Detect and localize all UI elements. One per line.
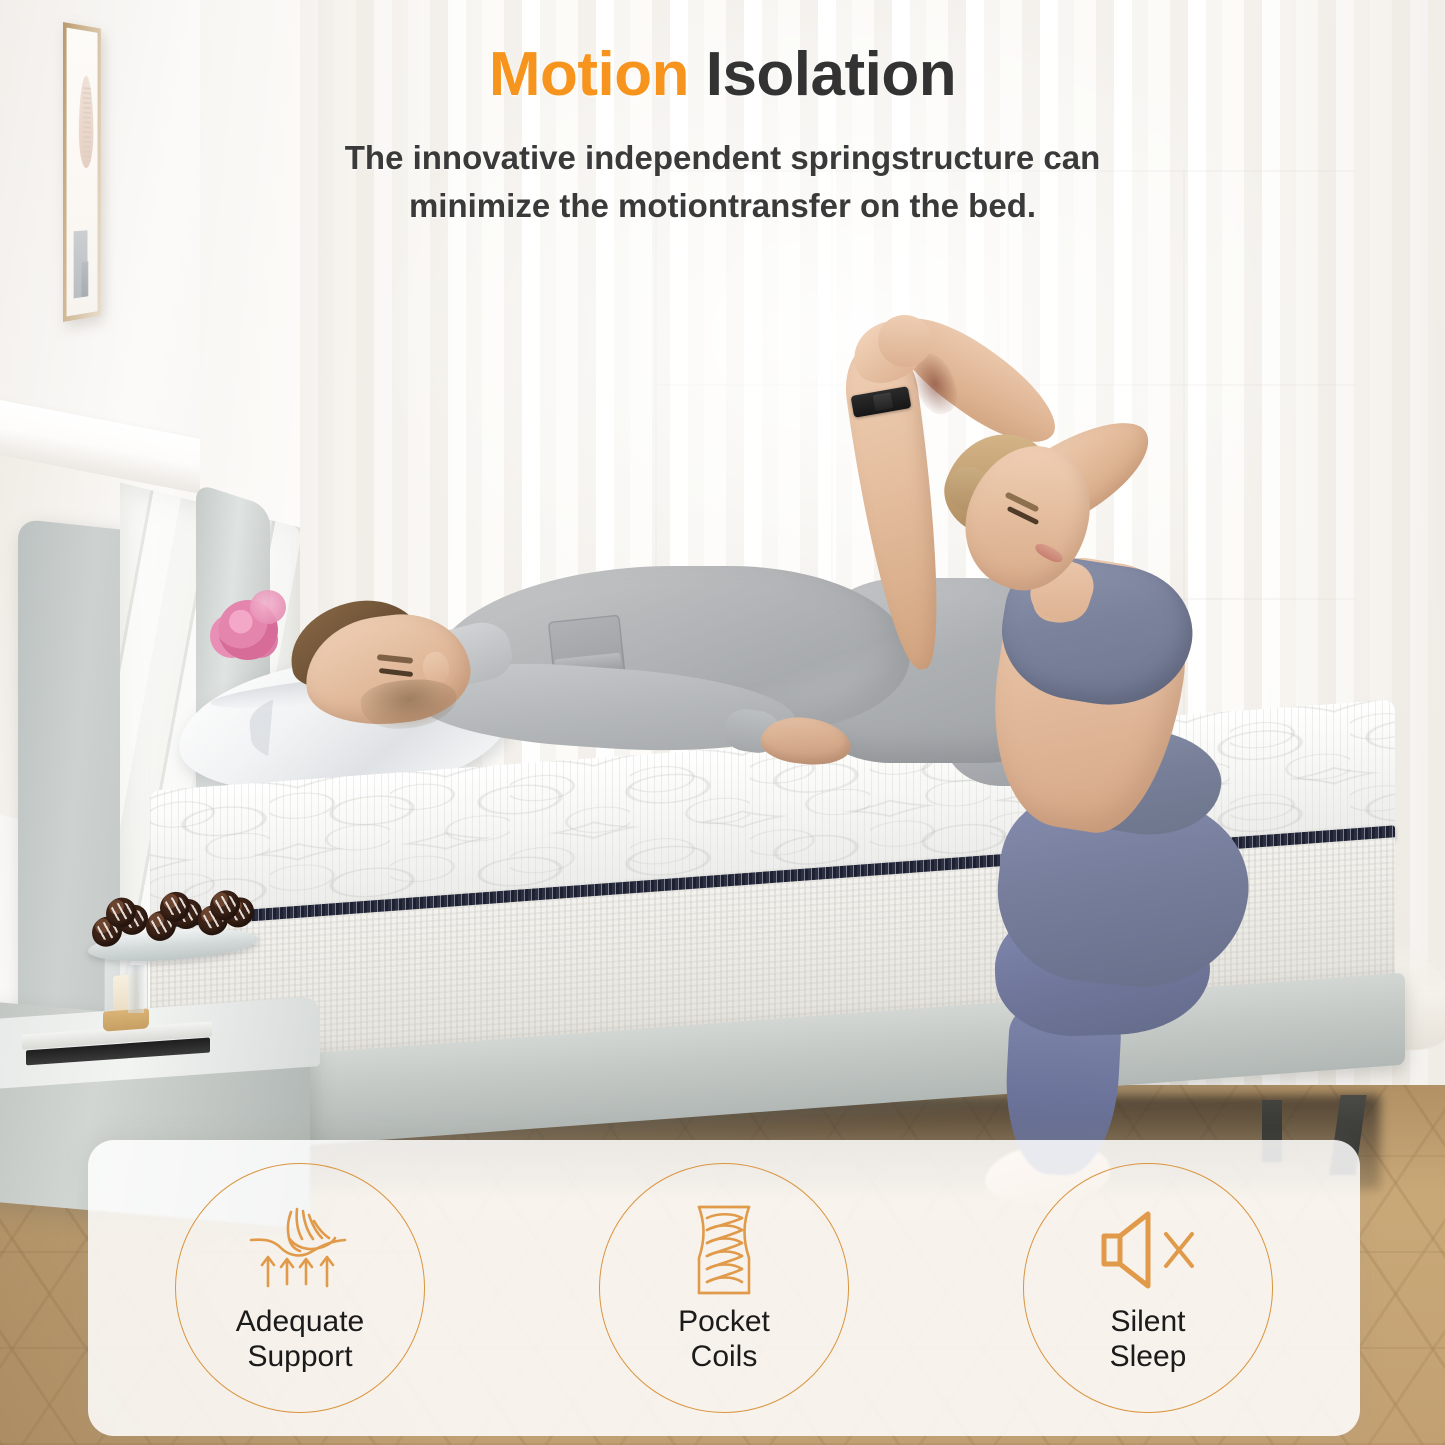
- feature-label-adequate-support: Adequate Support: [236, 1304, 364, 1375]
- page-subtitle: The innovative independent springstructu…: [0, 134, 1445, 230]
- title-rest-word: Isolation: [689, 40, 956, 109]
- product-image-canvas: Motion Isolation The innovative independ…: [0, 0, 1445, 1445]
- feature-label-line-2: Sleep: [1110, 1339, 1187, 1374]
- title-accent-word: Motion: [489, 40, 689, 109]
- subtitle-line-2: minimize the motiontransfer on the bed.: [0, 182, 1445, 230]
- dessert-stand-stem: [128, 965, 144, 1013]
- feature-label-line-2: Coils: [678, 1339, 770, 1374]
- feature-badge-pocket-coils[interactable]: Pocket Coils: [599, 1163, 849, 1413]
- wall-art-grey-block-small: [81, 261, 88, 297]
- feature-label-pocket-coils: Pocket Coils: [678, 1304, 770, 1375]
- feature-label-silent-sleep: Silent Sleep: [1110, 1304, 1187, 1375]
- pocket-coil-spring-icon: [685, 1202, 763, 1298]
- feature-badge-adequate-support[interactable]: Adequate Support: [175, 1163, 425, 1413]
- feature-highlights-panel: Adequate Support: [88, 1140, 1360, 1436]
- feature-label-line-1: Pocket: [678, 1304, 770, 1339]
- feature-label-line-2: Support: [236, 1339, 364, 1374]
- stretching-woman: [820, 305, 1250, 1205]
- page-title: Motion Isolation: [0, 42, 1445, 107]
- hand-pressing-support-icon: [245, 1202, 355, 1298]
- feature-label-line-1: Silent: [1110, 1304, 1187, 1339]
- feature-badge-silent-sleep[interactable]: Silent Sleep: [1023, 1163, 1273, 1413]
- feature-label-line-1: Adequate: [236, 1304, 364, 1339]
- muted-speaker-icon: [1096, 1202, 1200, 1298]
- subtitle-line-1: The innovative independent springstructu…: [0, 134, 1445, 182]
